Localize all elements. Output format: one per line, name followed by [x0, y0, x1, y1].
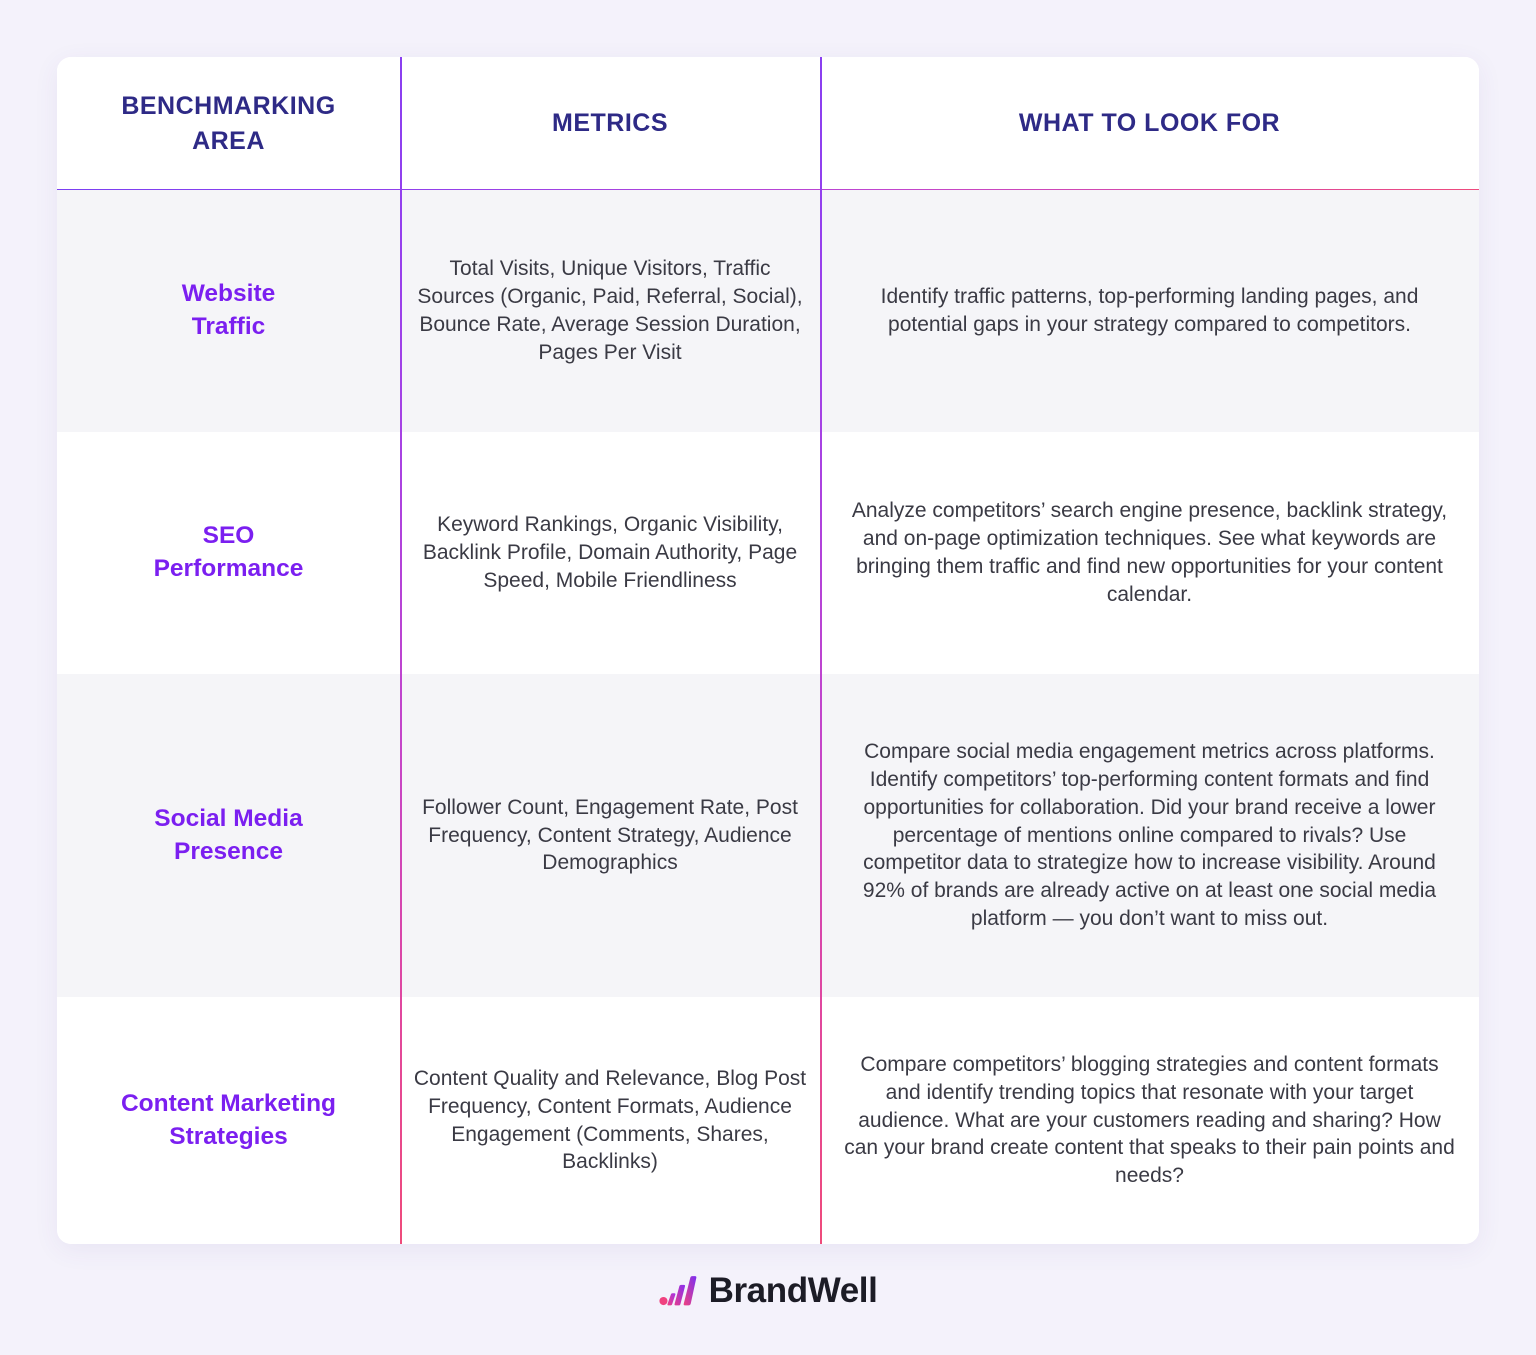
table-header-row: BENCHMARKING AREA METRICS WHAT TO LOOK F…	[57, 57, 1479, 190]
row-metrics-cell: Follower Count, Engagement Rate, Post Fr…	[400, 674, 820, 997]
header-label-what-to-look-for: WHAT TO LOOK FOR	[1019, 106, 1280, 141]
row-metrics-cell: Keyword Rankings, Organic Visibility, Ba…	[400, 432, 820, 674]
row-metrics-cell: Content Quality and Relevance, Blog Post…	[400, 997, 820, 1244]
area-label: WebsiteTraffic	[182, 278, 276, 343]
metrics-text: Keyword Rankings, Organic Visibility, Ba…	[400, 511, 820, 595]
area-label: SEOPerformance	[154, 520, 304, 585]
row-look-for-cell: Analyze competitors’ search engine prese…	[820, 432, 1479, 674]
row-metrics-cell: Total Visits, Unique Visitors, Traffic S…	[400, 190, 820, 432]
footer-logo: BrandWell	[0, 1273, 1536, 1308]
look-for-text: Compare competitors’ blogging strategies…	[820, 1051, 1479, 1191]
metrics-text: Follower Count, Engagement Rate, Post Fr…	[400, 794, 820, 878]
table-row: SEOPerformance Keyword Rankings, Organic…	[57, 432, 1479, 674]
column-divider-1	[400, 57, 402, 1244]
table-row: WebsiteTraffic Total Visits, Unique Visi…	[57, 190, 1479, 432]
header-label-metrics: METRICS	[552, 106, 668, 141]
benchmarking-table-card: BENCHMARKING AREA METRICS WHAT TO LOOK F…	[57, 57, 1479, 1244]
header-label-benchmarking-area: BENCHMARKING AREA	[121, 89, 335, 158]
row-look-for-cell: Compare competitors’ blogging strategies…	[820, 997, 1479, 1244]
area-label: Content MarketingStrategies	[121, 1088, 336, 1153]
table-row: Social MediaPresence Follower Count, Eng…	[57, 674, 1479, 997]
brandwell-wave-mark-icon	[659, 1274, 697, 1308]
metrics-text: Content Quality and Relevance, Blog Post…	[400, 1065, 820, 1177]
row-area-cell: SEOPerformance	[57, 432, 400, 674]
benchmarking-table: BENCHMARKING AREA METRICS WHAT TO LOOK F…	[57, 57, 1479, 1244]
infographic-page: BENCHMARKING AREA METRICS WHAT TO LOOK F…	[0, 0, 1536, 1355]
brand-name: BrandWell	[709, 1273, 878, 1308]
column-divider-2	[820, 57, 822, 1244]
header-cell-what-to-look-for: WHAT TO LOOK FOR	[820, 57, 1479, 190]
row-area-cell: WebsiteTraffic	[57, 190, 400, 432]
header-label-line-2: AREA	[121, 124, 335, 159]
table-row: Content MarketingStrategies Content Qual…	[57, 997, 1479, 1244]
header-cell-metrics: METRICS	[400, 57, 820, 190]
header-cell-benchmarking-area: BENCHMARKING AREA	[57, 57, 400, 190]
row-area-cell: Social MediaPresence	[57, 674, 400, 997]
header-label-line-1: BENCHMARKING	[121, 89, 335, 124]
look-for-text: Analyze competitors’ search engine prese…	[820, 497, 1479, 609]
row-look-for-cell: Identify traffic patterns, top-performin…	[820, 190, 1479, 432]
metrics-text: Total Visits, Unique Visitors, Traffic S…	[400, 255, 820, 367]
look-for-text: Identify traffic patterns, top-performin…	[820, 283, 1479, 339]
row-look-for-cell: Compare social media engagement metrics …	[820, 674, 1479, 997]
row-area-cell: Content MarketingStrategies	[57, 997, 400, 1244]
area-label: Social MediaPresence	[154, 803, 302, 868]
look-for-text: Compare social media engagement metrics …	[820, 738, 1479, 933]
